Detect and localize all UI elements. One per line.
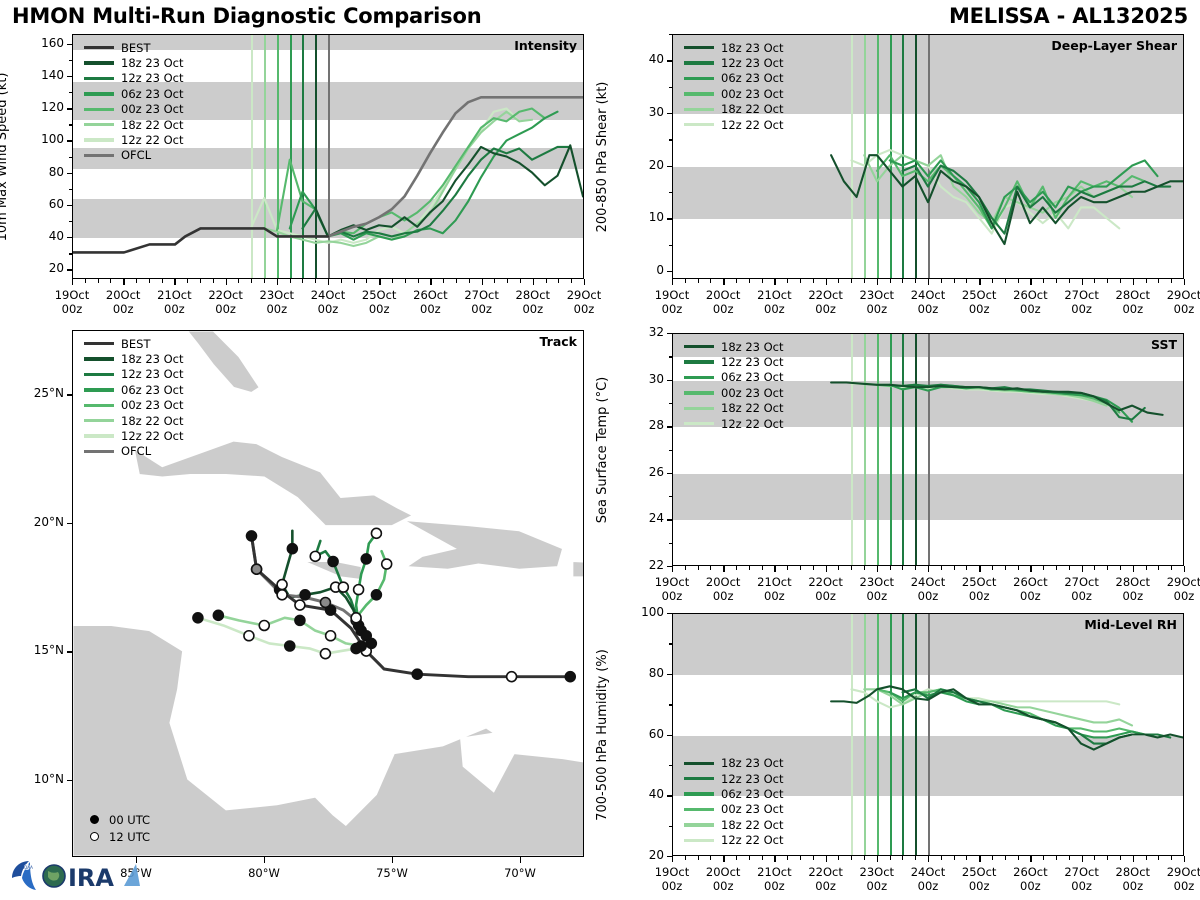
track-marker-12utc [382,559,392,569]
lon-tick-mark [520,857,521,863]
x-tick-mark [979,566,980,572]
x-tick-minor [787,566,788,570]
y-tick-mark [667,674,672,675]
x-tick-minor [941,566,942,570]
cira-logo: IRA [43,864,140,892]
legend-item-12z-22-oct[interactable]: 12z 22 Oct [684,833,784,848]
x-tick-minor [290,279,291,283]
x-tick-minor [558,279,559,283]
x-tick-mark [774,566,775,572]
x-tick-minor [136,279,137,283]
series-line-12z-23-oct [903,166,1171,234]
y-tick-mark [667,795,672,796]
legend-item-00z-23-oct[interactable]: 00z 23 Oct [84,102,184,117]
x-tick-minor [736,279,737,283]
x-tick-mark [1133,566,1134,572]
legend-item-00z-23-oct[interactable]: 00z 23 Oct [84,398,184,413]
legend-item-06z-23-oct[interactable]: 06z 23 Oct [84,382,184,397]
x-tick-mark [1184,566,1185,572]
x-tick-minor [494,279,495,283]
x-tick-mark [482,279,483,285]
x-tick-minor [1146,856,1147,860]
legend-item-00z-23-oct[interactable]: 00z 23 Oct [684,86,784,101]
legend-swatch [684,391,714,394]
track-marker-00utc [193,613,203,623]
x-tick-minor [762,566,763,570]
x-tick-minor [1069,566,1070,570]
y-tick-mark [667,271,672,272]
legend-item-18z-23-oct[interactable]: 18z 23 Oct [684,339,784,354]
x-tick-mark [430,279,431,285]
legend-item-18z-22-oct[interactable]: 18z 22 Oct [84,413,184,428]
sst-y-axis-label: Sea Surface Temp (°C) [595,376,610,523]
legend-swatch [684,46,714,49]
intensity-y-tick-label: 40 [14,229,64,243]
x-tick-minor [915,279,916,283]
legend-swatch [684,92,714,95]
track-marker-12utc [259,620,269,630]
track-legend: BEST18z 23 Oct12z 23 Oct06z 23 Oct00z 23… [84,336,184,459]
y-tick-mark [667,426,672,427]
x-tick-minor [1171,566,1172,570]
x-tick-minor [954,856,955,860]
intensity-panel-title: Intensity [514,38,577,53]
x-tick-mark [1082,856,1083,862]
legend-label: 12z 22 Oct [721,833,784,847]
lat-tick-label: 10°N [10,772,64,786]
x-tick-minor [749,856,750,860]
intensity-y-tick-label: 140 [14,68,64,82]
legend-label: 18z 22 Oct [121,414,184,428]
y-tick-minor [69,157,72,158]
legend-swatch [84,404,114,407]
x-tick-minor [685,856,686,860]
x-tick-minor [941,856,942,860]
intensity-y-axis-label: 10m Max Wind Speed (kt) [0,72,10,241]
marker-legend-label: 00 UTC [109,813,150,827]
track-marker-12utc [310,551,320,561]
x-tick-minor [838,566,839,570]
x-tick-minor [149,279,150,283]
x-tick-mark [277,279,278,285]
x-tick-minor [110,279,111,283]
y-tick-mark [67,140,72,141]
y-tick-minor [669,643,672,644]
x-tick-minor [890,566,891,570]
y-tick-minor [69,221,72,222]
rh-x-tick-label: 29Oct00z [1152,865,1200,893]
legend-label: 18z 23 Oct [121,352,184,366]
legend-swatch [84,108,114,111]
legend-swatch [684,376,714,379]
y-tick-minor [669,450,672,451]
track-marker-12utc [277,580,287,590]
x-tick-minor [685,279,686,283]
legend-swatch [684,77,714,80]
x-tick-mark [774,279,775,285]
x-tick-minor [954,279,955,283]
x-tick-minor [787,856,788,860]
y-tick-mark [67,173,72,174]
x-tick-minor [864,856,865,860]
lat-tick-mark [67,651,72,652]
x-tick-minor [469,279,470,283]
legend-swatch [84,357,114,360]
legend-item-06z-23-oct[interactable]: 06z 23 Oct [684,786,784,801]
legend-item-12z-22-oct[interactable]: 12z 22 Oct [84,428,184,443]
legend-label: 00z 23 Oct [721,802,784,816]
x-tick-minor [200,279,201,283]
legend-item-12z-23-oct[interactable]: 12z 23 Oct [684,55,784,70]
legend-label: 18z 23 Oct [121,56,184,70]
x-tick-minor [966,566,967,570]
x-tick-minor [710,279,711,283]
lat-tick-label: 25°N [10,386,64,400]
x-tick-minor [341,279,342,283]
x-tick-minor [264,279,265,283]
sst-y-tick-label: 22 [614,558,664,572]
legend-label: 18z 23 Oct [721,41,784,55]
legend-swatch [684,762,714,765]
legend-label: OFCL [121,148,151,162]
legend-item-18z-23-oct[interactable]: 18z 23 Oct [84,351,184,366]
x-tick-minor [354,279,355,283]
y-tick-mark [667,333,672,334]
y-tick-mark [67,108,72,109]
legend-item-18z-23-oct[interactable]: 18z 23 Oct [84,55,184,70]
x-tick-minor [902,566,903,570]
x-tick-mark [723,856,724,862]
track-marker-00utc [213,610,223,620]
legend-label: 12z 23 Oct [121,367,184,381]
legend-item-18z-22-oct[interactable]: 18z 22 Oct [684,102,784,117]
legend-swatch [684,422,714,425]
svg-text:NOAA: NOAA [21,865,33,870]
x-tick-minor [1069,856,1070,860]
x-tick-mark [928,279,929,285]
legend-item-18z-23-oct[interactable]: 18z 23 Oct [684,756,784,771]
y-tick-minor [669,356,672,357]
intensity-y-tick-label: 160 [14,36,64,50]
y-tick-minor [69,60,72,61]
x-tick-minor [1158,566,1159,570]
intensity-y-tick-label: 100 [14,132,64,146]
marker-legend-item: 12 UTC [86,828,150,845]
x-tick-minor [838,279,839,283]
shear-y-tick-label: 40 [614,52,664,66]
legend-swatch [84,154,114,157]
lat-tick-label: 20°N [10,515,64,529]
y-tick-mark [667,735,672,736]
legend-item-best[interactable]: BEST [84,40,184,55]
track-marker-00utc [361,554,371,564]
x-tick-minor [1146,279,1147,283]
sst-legend: 18z 23 Oct12z 23 Oct06z 23 Oct00z 23 Oct… [684,339,784,431]
legend-item-12z-22-oct[interactable]: 12z 22 Oct [84,132,184,147]
x-tick-minor [1120,856,1121,860]
legend-label: OFCL [121,444,151,458]
legend-item-06z-23-oct[interactable]: 06z 23 Oct [684,71,784,86]
lon-tick-mark [392,857,393,863]
shear-y-tick-label: 20 [614,158,664,172]
track-marker-00utc [295,615,305,625]
track-panel-title: Track [540,334,577,349]
x-tick-mark [328,279,329,285]
legend-label: BEST [121,337,150,351]
x-tick-minor [698,566,699,570]
y-tick-minor [669,34,672,35]
lon-tick-label: 70°W [488,866,552,880]
x-tick-mark [1030,279,1031,285]
x-tick-minor [838,856,839,860]
legend-swatch [84,123,114,126]
legend-swatch [684,360,714,363]
x-tick-minor [813,279,814,283]
legend-swatch [84,46,114,49]
shear-x-tick-label: 29Oct00z [1152,288,1200,316]
intensity-y-tick-label: 60 [14,197,64,211]
x-tick-minor [1171,856,1172,860]
y-tick-minor [69,124,72,125]
legend-label: 18z 22 Oct [721,401,784,415]
landmass-polygon [405,520,563,569]
y-tick-mark [67,76,72,77]
x-tick-mark [1030,566,1031,572]
legend-swatch [684,808,714,811]
x-tick-minor [966,856,967,860]
x-tick-minor [1158,856,1159,860]
x-tick-minor [749,566,750,570]
x-tick-minor [418,279,419,283]
x-tick-minor [366,279,367,283]
shear-panel-title: Deep-Layer Shear [1051,38,1177,53]
x-tick-minor [251,279,252,283]
legend-item-00z-23-oct[interactable]: 00z 23 Oct [684,385,784,400]
shear-y-axis-label: 200-850 hPa Shear (kt) [595,81,610,232]
shear-y-tick-label: 10 [614,210,664,224]
y-tick-mark [67,269,72,270]
lat-tick-label: 15°N [10,643,64,657]
legend-label: 00z 23 Oct [721,87,784,101]
track-marker-12utc [277,590,287,600]
legend-item-06z-23-oct[interactable]: 06z 23 Oct [84,86,184,101]
x-tick-minor [710,856,711,860]
x-tick-minor [966,279,967,283]
x-tick-mark [226,279,227,285]
x-tick-minor [941,279,942,283]
y-tick-mark [667,380,672,381]
sst-panel-title: SST [1151,337,1177,352]
x-tick-mark [174,279,175,285]
x-tick-minor [1120,566,1121,570]
x-tick-minor [813,566,814,570]
y-tick-mark [667,473,672,474]
x-tick-mark [584,279,585,285]
x-tick-minor [813,856,814,860]
legend-label: 12z 22 Oct [121,133,184,147]
x-tick-minor [1107,279,1108,283]
marker-legend-item: 00 UTC [86,811,150,828]
x-tick-minor [456,279,457,283]
x-tick-mark [379,279,380,285]
legend-item-18z-22-oct[interactable]: 18z 22 Oct [684,401,784,416]
intensity-x-tick-label: 29Oct00z [552,288,616,316]
y-tick-minor [669,543,672,544]
track-marker-00utc [366,638,376,648]
lat-tick-mark [67,394,72,395]
x-tick-minor [1056,279,1057,283]
legend-item-18z-23-oct[interactable]: 18z 23 Oct [684,40,784,55]
rh-y-axis-label: 700-500 hPa Humidity (%) [595,649,610,821]
y-tick-mark [67,44,72,45]
track-marker-12utc [244,631,254,641]
legend-item-12z-22-oct[interactable]: 12z 22 Oct [684,416,784,431]
legend-swatch [684,407,714,410]
y-tick-mark [667,519,672,520]
x-tick-minor [571,279,572,283]
legend-label: 06z 23 Oct [721,370,784,384]
x-tick-minor [162,279,163,283]
legend-label: 18z 22 Oct [121,118,184,132]
legend-item-18z-22-oct[interactable]: 18z 22 Oct [684,817,784,832]
x-tick-minor [698,279,699,283]
legend-item-00z-23-oct[interactable]: 00z 23 Oct [684,802,784,817]
legend-label: BEST [121,41,150,55]
legend-swatch [84,388,114,391]
legend-swatch [684,839,714,842]
open-circle-icon [90,832,99,841]
legend-swatch [84,434,114,437]
series-line-18z-23-oct [315,145,583,236]
legend-item-06z-23-oct[interactable]: 06z 23 Oct [684,370,784,385]
x-tick-mark [672,566,673,572]
rh-panel-title: Mid-Level RH [1084,617,1177,632]
legend-swatch [684,345,714,348]
legend-label: 12z 23 Oct [121,71,184,85]
marker-legend-label: 12 UTC [109,830,150,844]
x-tick-minor [864,566,865,570]
x-tick-minor [762,856,763,860]
legend-item-12z-23-oct[interactable]: 12z 23 Oct [684,771,784,786]
track-marker-12utc [371,528,381,538]
y-tick-minor [669,765,672,766]
x-tick-mark [1030,856,1031,862]
y-tick-minor [69,253,72,254]
legend-label: 12z 22 Oct [121,429,184,443]
legend-label: 06z 23 Oct [121,87,184,101]
x-tick-mark [72,279,73,285]
x-tick-mark [1082,279,1083,285]
legend-swatch [84,61,114,64]
legend-swatch [84,450,114,453]
x-tick-minor [1107,856,1108,860]
y-tick-mark [667,113,672,114]
track-marker-12utc [351,613,361,623]
y-tick-minor [69,189,72,190]
x-tick-mark [979,856,980,862]
x-tick-mark [774,856,775,862]
rh-y-tick-label: 80 [614,666,664,680]
y-tick-mark [667,166,672,167]
lon-tick-label: 80°W [232,866,296,880]
x-tick-minor [1120,279,1121,283]
legend-label: 18z 22 Oct [721,818,784,832]
legend-label: 12z 23 Oct [721,56,784,70]
x-tick-minor [1018,566,1019,570]
x-tick-minor [1056,856,1057,860]
x-tick-minor [1005,279,1006,283]
x-tick-minor [1018,279,1019,283]
x-tick-minor [1043,856,1044,860]
rh-y-tick-label: 40 [614,787,664,801]
y-tick-minor [669,403,672,404]
sst-y-tick-label: 26 [614,465,664,479]
legend-item-12z-23-oct[interactable]: 12z 23 Oct [84,367,184,382]
filled-circle-icon [90,815,99,824]
legend-label: 12z 23 Oct [721,355,784,369]
track-marker-12utc [507,672,517,682]
legend-swatch [84,92,114,95]
y-tick-minor [669,826,672,827]
x-tick-minor [315,279,316,283]
x-tick-mark [123,279,124,285]
x-tick-minor [992,566,993,570]
legend-label: 06z 23 Oct [721,787,784,801]
legend-label: 00z 23 Oct [721,386,784,400]
x-tick-minor [1005,856,1006,860]
landmass-polygon [573,562,583,577]
legend-label: 18z 22 Oct [721,102,784,116]
page-title-left: HMON Multi-Run Diagnostic Comparison [12,4,481,34]
legend-swatch [684,108,714,111]
x-tick-minor [915,856,916,860]
legend-item-12z-22-oct[interactable]: 12z 22 Oct [684,117,784,132]
x-tick-mark [672,279,673,285]
track-marker-12utc [354,585,364,595]
legend-label: 18z 23 Oct [721,756,784,770]
legend-swatch [84,373,114,376]
legend-item-18z-22-oct[interactable]: 18z 22 Oct [84,117,184,132]
x-tick-minor [546,279,547,283]
x-tick-minor [98,279,99,283]
x-tick-minor [890,856,891,860]
lat-tick-mark [67,780,72,781]
x-tick-minor [954,566,955,570]
intensity-y-tick-label: 120 [14,100,64,114]
legend-item-12z-23-oct[interactable]: 12z 23 Oct [84,71,184,86]
rh-y-tick-label: 20 [614,848,664,862]
legend-label: 06z 23 Oct [121,383,184,397]
x-tick-minor [992,279,993,283]
y-tick-mark [667,218,672,219]
x-tick-minor [736,856,737,860]
page-title-right: MELISSA - AL132025 [949,4,1188,34]
legend-item-ofcl[interactable]: OFCL [84,444,184,459]
legend-swatch [84,77,114,80]
sst-y-tick-label: 32 [614,325,664,339]
legend-item-ofcl[interactable]: OFCL [84,148,184,163]
y-tick-minor [669,245,672,246]
x-tick-minor [1005,566,1006,570]
legend-item-12z-23-oct[interactable]: 12z 23 Oct [684,354,784,369]
x-tick-minor [1094,856,1095,860]
legend-item-best[interactable]: BEST [84,336,184,351]
x-tick-minor [800,279,801,283]
x-tick-minor [1069,279,1070,283]
x-tick-minor [1107,566,1108,570]
series-line-18z-23-oct [831,155,1183,244]
x-tick-mark [877,856,878,862]
